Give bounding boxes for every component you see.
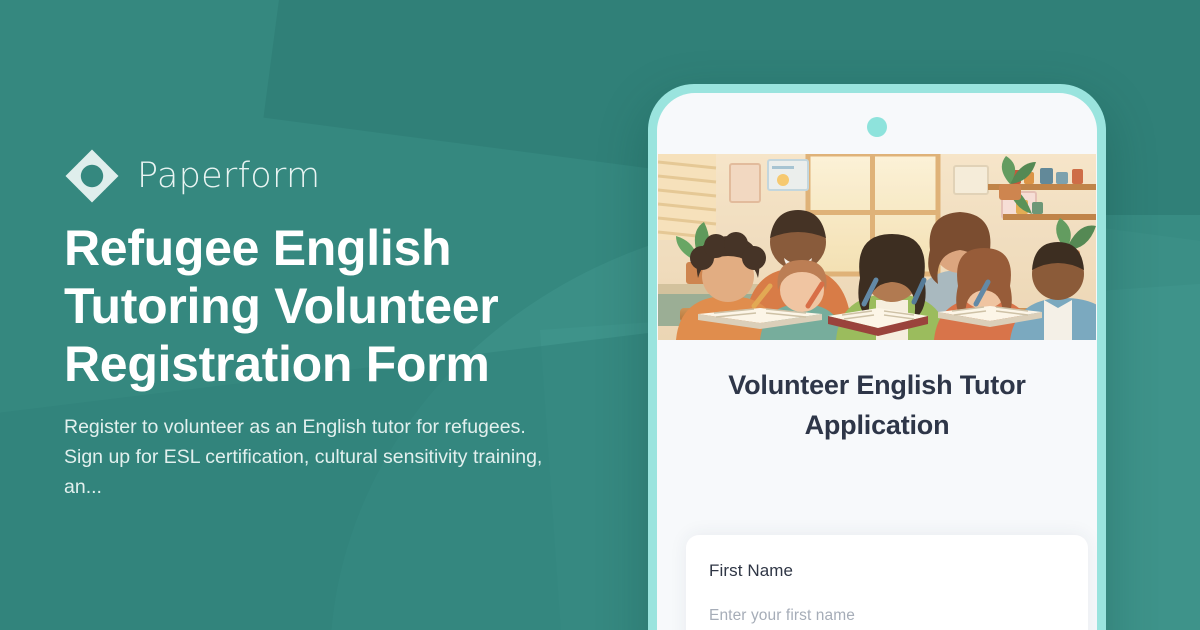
- brand-name: Paperform: [137, 159, 320, 194]
- form-cover-image: [658, 154, 1096, 340]
- first-name-label: First Name: [709, 561, 793, 581]
- share-preview-card: Paperform Refugee English Tutoring Volun…: [0, 0, 1200, 630]
- form-title: Volunteer English Tutor Application: [681, 365, 1073, 445]
- phone-camera-icon: [867, 117, 887, 137]
- hero-text-column: Paperform Refugee English Tutoring Volun…: [64, 0, 584, 630]
- brand-lockup: Paperform: [64, 148, 320, 204]
- first-name-input[interactable]: Enter your first name: [709, 607, 1065, 625]
- form-field-card: First Name Enter your first name: [686, 535, 1088, 630]
- page-title: Refugee English Tutoring Volunteer Regis…: [64, 219, 584, 393]
- phone-screen: Volunteer English Tutor Application Firs…: [657, 93, 1097, 630]
- paperform-logo-icon: [64, 148, 120, 204]
- phone-mockup: Volunteer English Tutor Application Firs…: [648, 84, 1106, 630]
- page-description: Register to volunteer as an English tuto…: [64, 412, 544, 502]
